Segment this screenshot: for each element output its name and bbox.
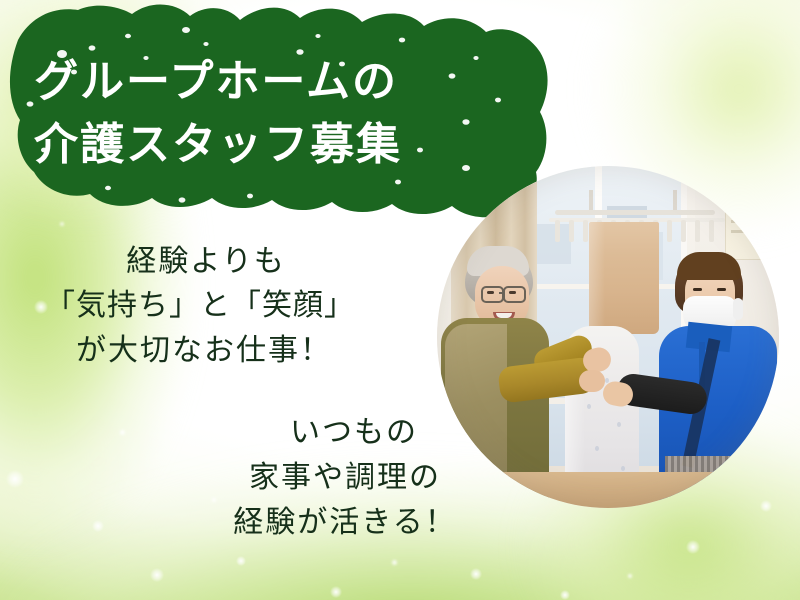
poster-root: グループホームの 介護スタッフ募集 経験よりも 「気持ち」と「笑顔」 が大切なお… bbox=[0, 0, 800, 600]
photo-notice-line-1 bbox=[731, 210, 759, 213]
caregiving-photo bbox=[437, 166, 779, 508]
copy-middle-line-2: 「気持ち」と「笑顔」 bbox=[0, 284, 400, 328]
copy-middle-line-3: が大切なお仕事！ bbox=[0, 329, 400, 373]
copy-middle-block: 経験よりも 「気持ち」と「笑顔」 が大切なお仕事！ bbox=[0, 240, 400, 373]
headline-text-block: グループホームの 介護スタッフ募集 bbox=[34, 52, 544, 175]
photo-vignette bbox=[437, 166, 779, 508]
headline-line-1: グループホームの bbox=[34, 52, 544, 113]
copy-middle-line-1: 経験よりも bbox=[0, 240, 400, 284]
